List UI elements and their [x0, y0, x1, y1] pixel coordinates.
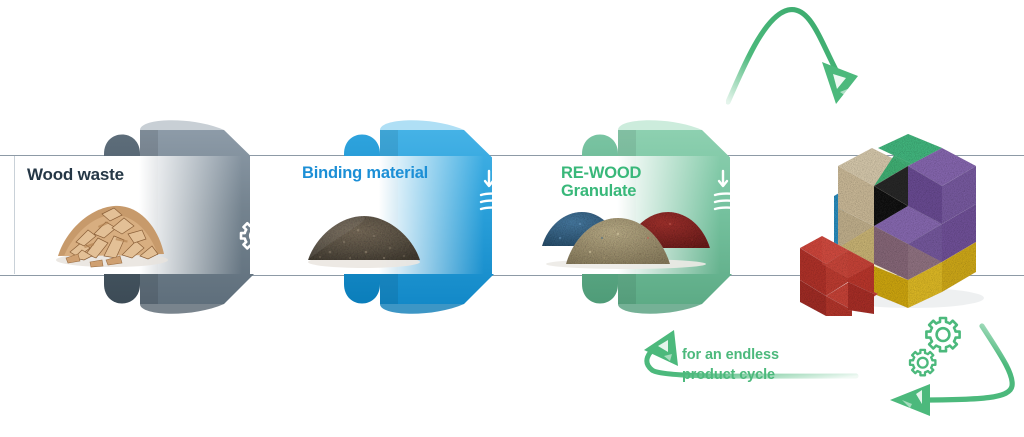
gear-large-icon: [258, 185, 299, 226]
cube-stack: [800, 128, 1000, 318]
return-arrow-top: [726, 0, 906, 120]
stage-2-icons: [478, 168, 542, 268]
thermometer-icon: [739, 223, 761, 262]
binder-granules-image: [300, 196, 428, 270]
stage-2-label: Binding material: [302, 164, 428, 182]
thermometer-icon: [505, 223, 527, 262]
arrow-head-top: [822, 62, 858, 104]
return-arrow-bottom: [872, 312, 1024, 432]
gear-small-icon: [241, 221, 271, 251]
stage-1-label: Wood waste: [27, 165, 124, 184]
stage-1-icons: [236, 174, 314, 258]
gear-large-icon: [926, 318, 959, 351]
stage-3-icons: [712, 168, 776, 268]
coloured-granulate-image: [540, 192, 712, 270]
gear-small-icon: [910, 350, 935, 375]
infographic-canvas: Wood waste Binding material RE-WOOD Gran…: [0, 0, 1024, 435]
cycle-caption: for an endless product cycle: [682, 346, 779, 385]
arrow-head-bottom: [890, 384, 930, 416]
wood-chips-image: [46, 186, 176, 270]
press-down-arrows-icon: [715, 171, 771, 210]
press-down-arrows-icon: [481, 171, 537, 210]
